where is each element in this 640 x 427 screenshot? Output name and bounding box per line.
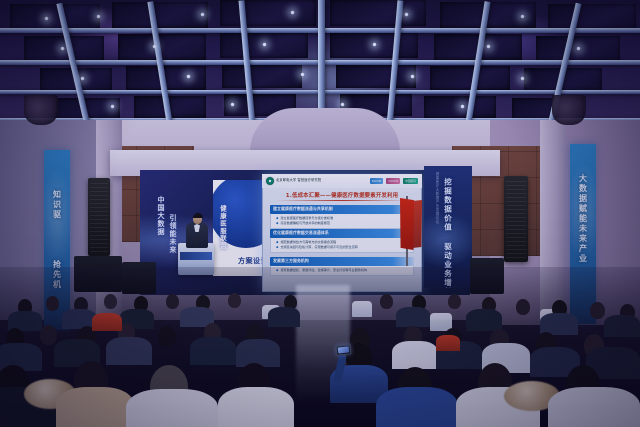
audience-shoulders [268,307,300,327]
bullet-dot-icon: ◆ [276,216,278,220]
slide-header-bar: 北京邮电大学 智慧医疗研究院 BACDE CQUDS 中国医科 [262,174,422,188]
slide-block-1-body: ◆建立健康医疗数据目录与分级分类标准 ◆完善数据确权与开放共享的制度规范 [270,214,414,229]
audience-head [104,294,117,309]
audience-head [40,325,57,345]
organization-logo: 北京邮电大学 智慧医疗研究院 [266,177,321,185]
slide-title-underline [276,200,408,201]
stage-circle-panel-text: 健康医服联盟 [219,205,228,249]
audience-shoulders [376,387,458,427]
slide-bullet: ◆支持区块链与隐私计算，实现数据可用不可见的安全流转 [276,245,410,249]
audience-shoulders [56,387,134,427]
audience-head [380,294,393,309]
audience-area [0,267,640,427]
audience-head [228,293,241,308]
ornamental-corbel-left [24,95,58,125]
audience-head [590,302,605,319]
circular-emblem-icon [266,177,274,185]
slide-block-2-body: ◆规范数据供给方与需求方的交易撮合流程 ◆支持区块链与隐私计算，实现数据可用不可… [270,238,414,253]
wall-arch [250,108,400,152]
audience-shoulders [106,337,152,365]
partner-logo-3: 中国医科 [403,178,418,184]
audience-shoulders [604,315,640,337]
bullet-dot-icon: ◆ [276,240,278,244]
slide-block-1-heading: 建立健康医疗数据流通与共享机制 [270,205,414,214]
bullet-dot-icon: ◆ [276,245,278,249]
slide-title: 1.低成本汇聚——健康医疗数据要素开发利用 [262,191,422,199]
banner-stage-right-subtitle: 健康医疗大数据产业发展论坛 [435,172,440,224]
stage-slogan-line-2: 引领能未来 [168,214,178,254]
audience-shoulders [126,389,218,427]
audience-shoulders [62,309,96,329]
audience-shoulders-red-coat [92,313,122,331]
audience-shoulders [218,387,294,427]
pa-speaker-right [504,176,528,262]
banner-far-right-text: 大数据赋能未来产业 [578,174,589,264]
audience-shoulders [396,307,430,327]
slide-bullet: ◆建立健康医疗数据目录与分级分类标准 [276,216,410,220]
audience-shoulders [190,337,236,365]
slide-block-2: 优化健康医疗数据交易流通体系 ◆规范数据供给方与需求方的交易撮合流程 ◆支持区块… [270,229,414,253]
smartphone-icon [336,344,352,356]
slide-bullet-text: 建立健康医疗数据目录与分级分类标准 [280,216,333,220]
national-flag-front [400,198,414,250]
audience-head [166,294,179,309]
audience-head [158,326,176,347]
slide-block-1: 建立健康医疗数据流通与共享机制 ◆建立健康医疗数据目录与分级分类标准 ◆完善数据… [270,205,414,229]
slide-bullet: ◆完善数据确权与开放共享的制度规范 [276,221,410,225]
partner-logo-1: BACDE [370,178,383,184]
bullet-dot-icon: ◆ [276,221,278,225]
slide-bullet-text: 规范数据供给方与需求方的交易撮合流程 [280,240,336,244]
stage-slogan-line-1: 中国大数据 [156,196,166,236]
slide-bullet: ◆规范数据供给方与需求方的交易撮合流程 [276,240,410,244]
audience-shoulders [466,309,502,331]
audience-shoulders [548,387,640,427]
pa-speaker-left [88,178,110,256]
presenter-hair [193,213,203,218]
audience-shoulders-red-coat [436,335,460,351]
banner-far-left-line-1: 知识驱 [52,190,63,220]
slide-block-2-heading: 优化健康医疗数据交易流通体系 [270,229,414,238]
audience-head [516,299,530,315]
partner-logo-2: CQUDS [386,178,400,184]
audience-head [46,296,59,311]
slide-bullet-text: 完善数据确权与开放共享的制度规范 [280,221,330,225]
conference-hall-photo: 知识驱 抢先机 大数据赋能未来产业 中国大数据 引领能未来 健康医服联盟 方案设… [0,0,640,427]
organization-name: 北京邮电大学 智慧医疗研究院 [276,179,321,182]
slide-bullet-text: 支持区块链与隐私计算，实现数据可用不可见的安全流转 [280,245,357,249]
partner-logo-row: BACDE CQUDS 中国医科 [370,178,418,184]
slide-block-3-heading: 发展第三方服务机构 [270,257,414,266]
audience-head [448,294,461,309]
ornamental-corbel-right [552,95,586,125]
audience-shoulders [392,341,438,369]
